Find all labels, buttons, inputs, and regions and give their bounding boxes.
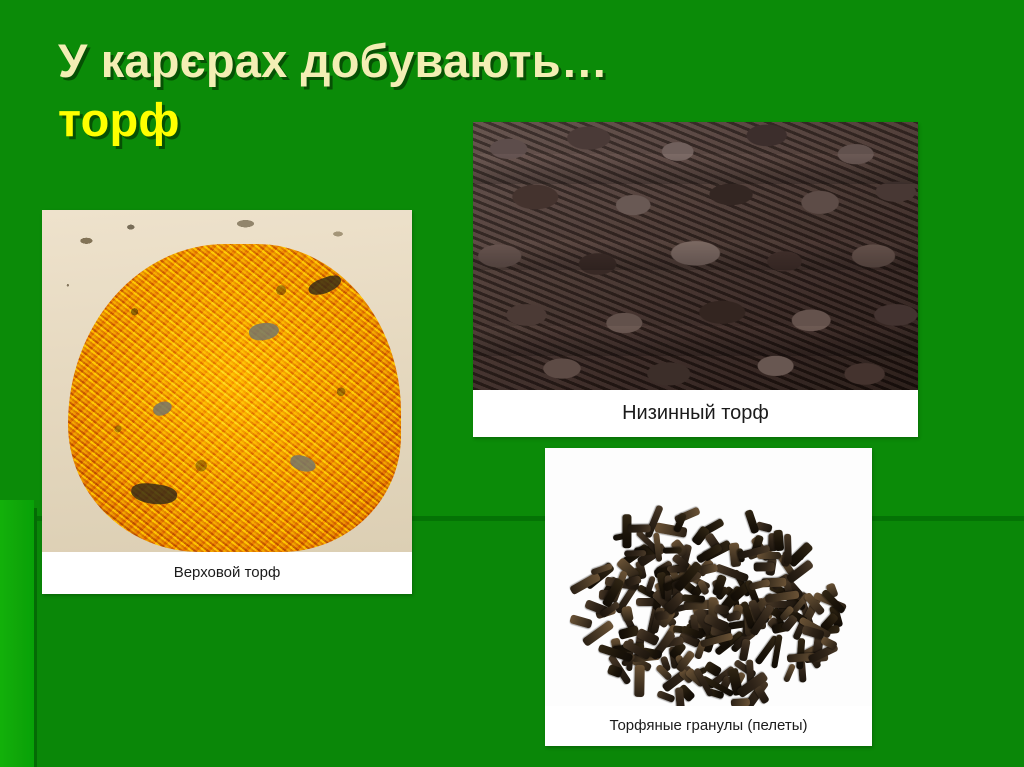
photo-peat-pellets-pile bbox=[545, 448, 872, 706]
peat-pellet bbox=[628, 525, 651, 533]
image-card-peat-pellets[interactable]: Торфяные гранулы (пелеты) bbox=[545, 448, 872, 746]
peat-pellet bbox=[622, 606, 635, 623]
peat-pellet bbox=[820, 635, 838, 649]
peat-pellet bbox=[663, 547, 682, 554]
title-line-highlight: торф bbox=[58, 93, 938, 148]
slide-title: У карєрах добувають… торф bbox=[58, 34, 938, 147]
peat-pellet bbox=[773, 530, 784, 552]
photo-peat-pellets bbox=[545, 448, 872, 706]
caption-upland-peat: Верховой торф bbox=[42, 552, 412, 594]
peat-pellet bbox=[569, 614, 593, 629]
caption-lowland-peat: Низинный торф bbox=[473, 390, 918, 437]
peat-pellet bbox=[635, 665, 645, 697]
background-left-accent-strip bbox=[0, 500, 34, 767]
photo-lowland-peat-band bbox=[473, 326, 918, 356]
presentation-slide: У карєрах добувають… торф Верховой торф … bbox=[0, 0, 1024, 767]
image-card-upland-peat[interactable]: Верховой торф bbox=[42, 210, 412, 594]
photo-lowland-peat-band bbox=[473, 154, 918, 184]
peat-pellet bbox=[784, 534, 792, 564]
peat-pellet bbox=[624, 549, 646, 556]
photo-lowland-peat-band bbox=[473, 240, 918, 270]
peat-pellet bbox=[754, 561, 775, 571]
peat-pellet bbox=[783, 663, 796, 683]
peat-pellet bbox=[731, 699, 750, 706]
peat-pellet bbox=[657, 690, 676, 703]
background-left-accent-edge bbox=[34, 508, 37, 767]
caption-peat-pellets: Торфяные гранулы (пелеты) bbox=[545, 706, 872, 746]
peat-pellet bbox=[667, 566, 687, 572]
title-line-primary: У карєрах добувають… bbox=[58, 34, 938, 89]
image-card-lowland-peat[interactable]: Низинный торф bbox=[473, 122, 918, 437]
photo-lowland-peat bbox=[473, 122, 918, 390]
photo-upland-peat bbox=[42, 210, 412, 552]
